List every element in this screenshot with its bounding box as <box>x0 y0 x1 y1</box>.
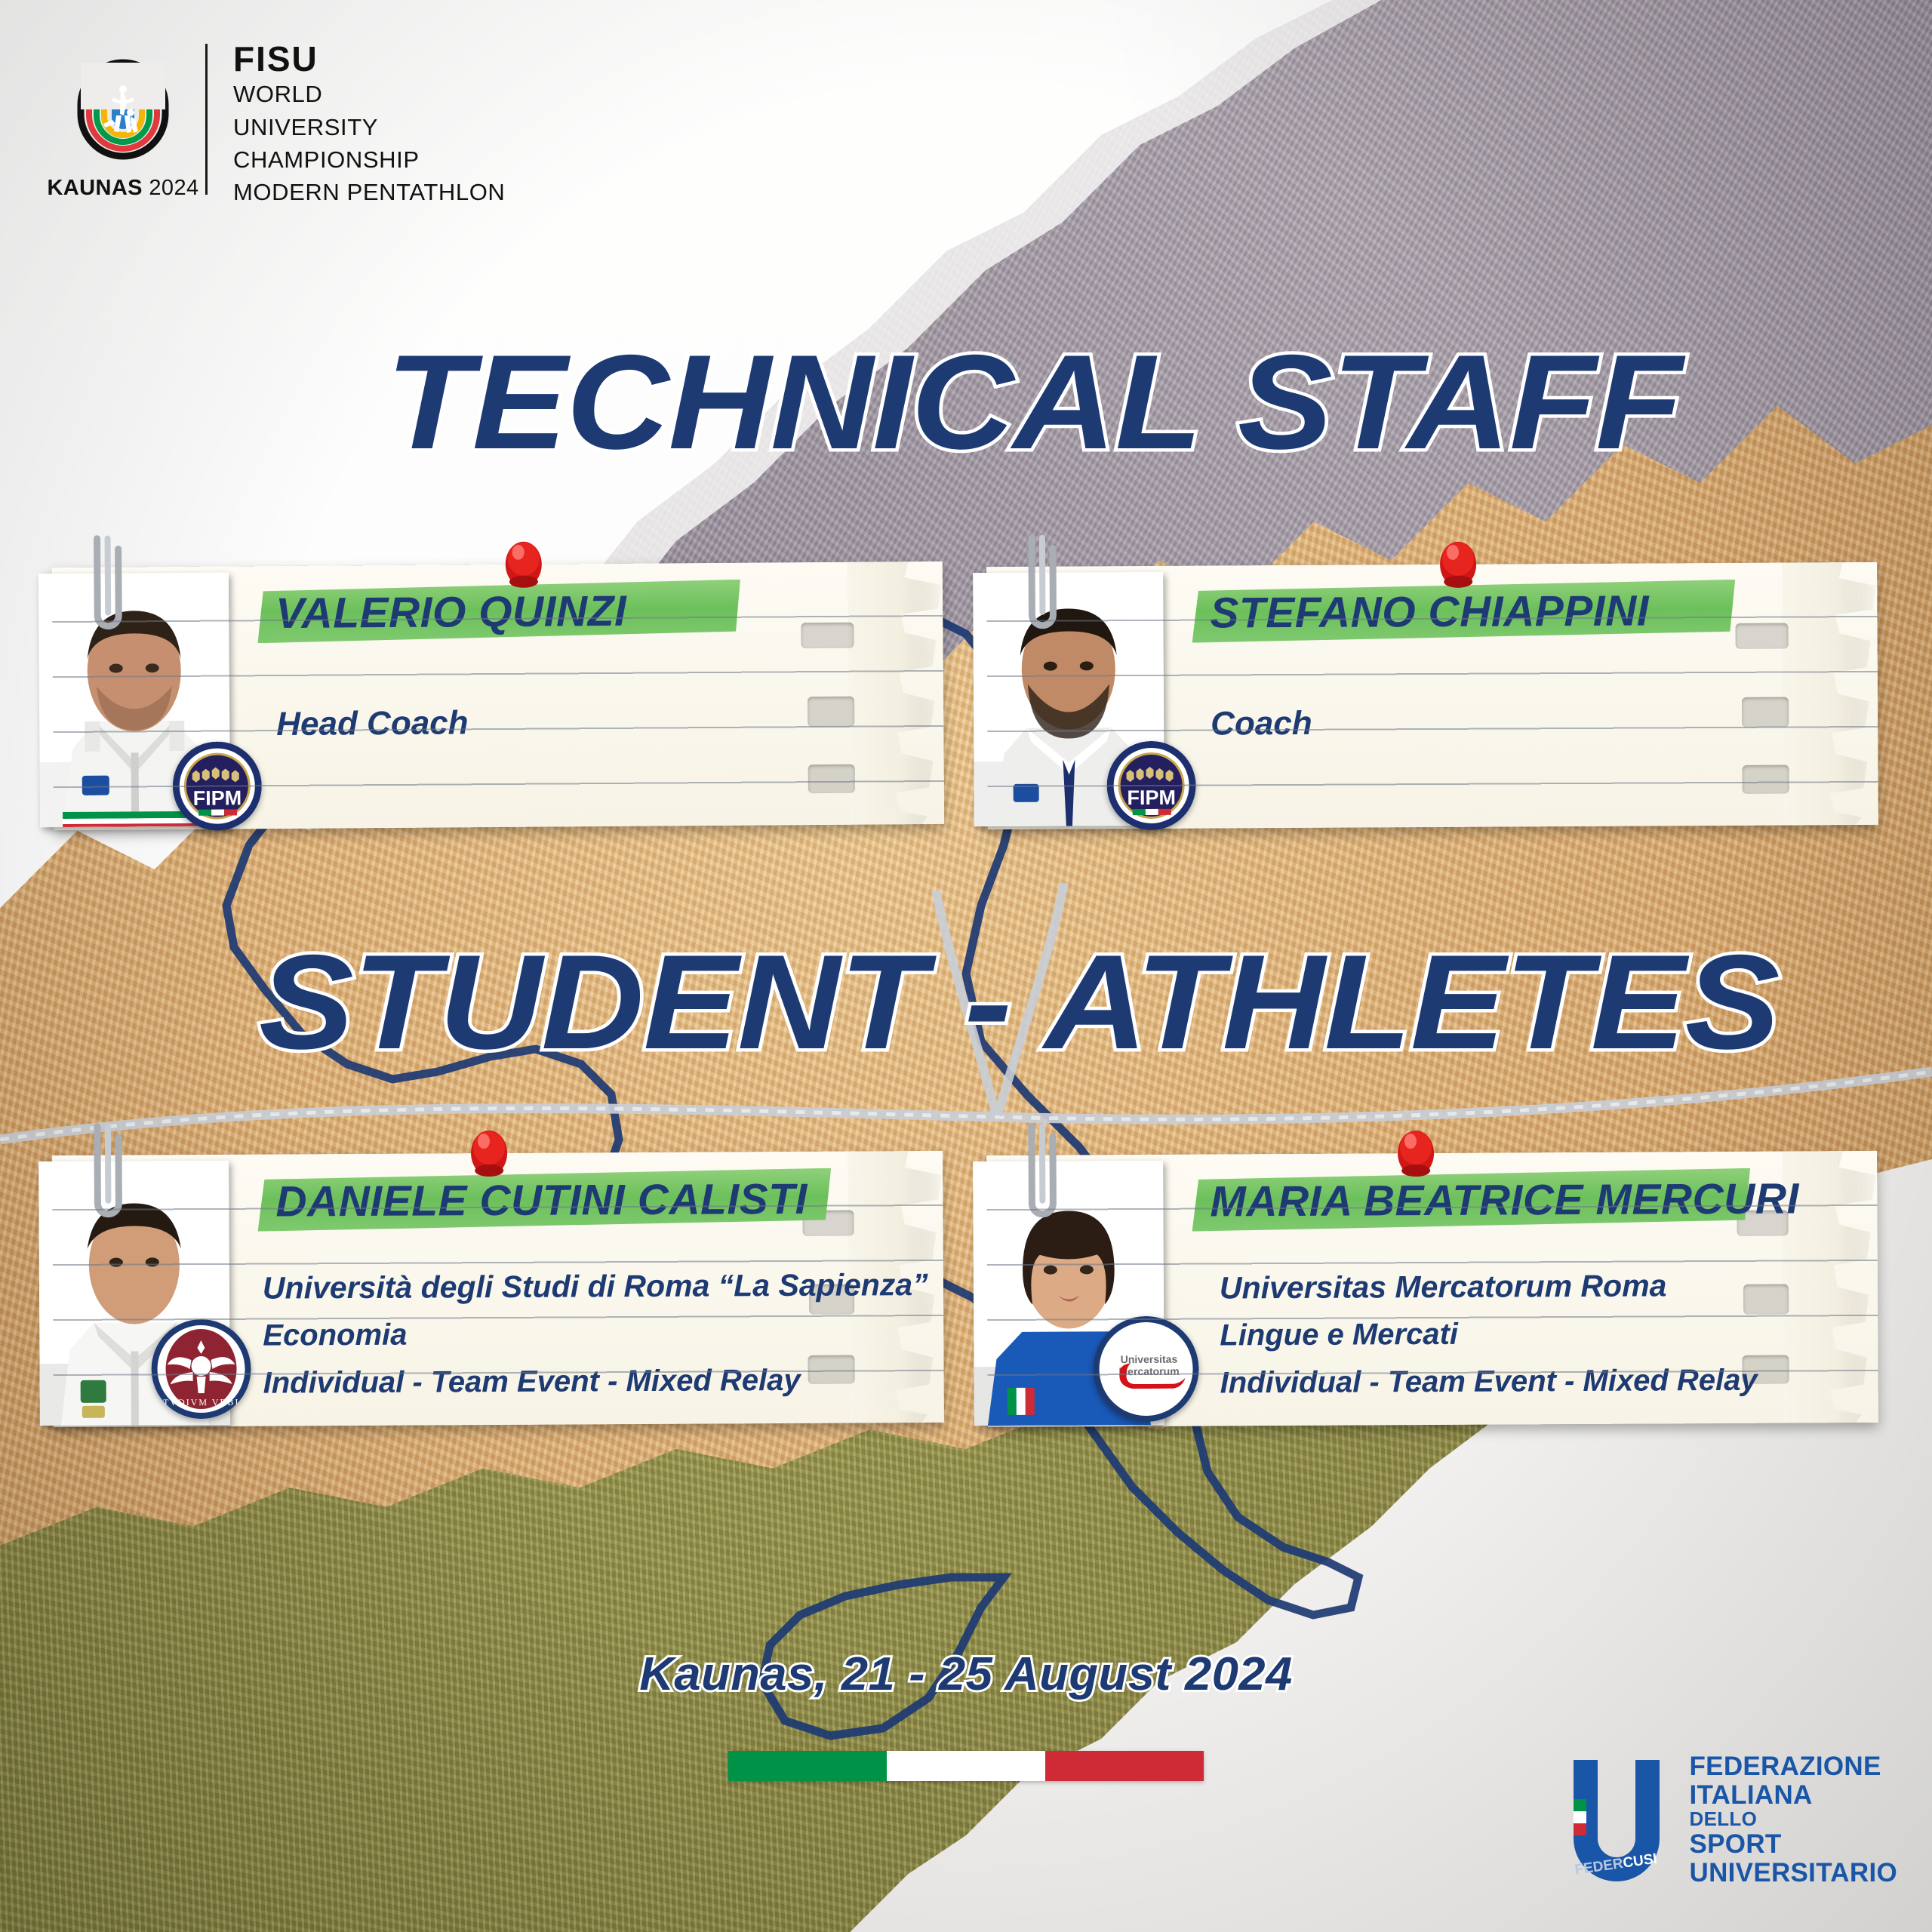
card-tear-hole <box>1742 765 1789 794</box>
fipm-badge: FIPM <box>172 741 262 831</box>
svg-text:Mercatorum: Mercatorum <box>1118 1365 1179 1377</box>
fisu-line-4: MODERN PENTATHLON <box>233 177 505 208</box>
svg-text:STVDIVM VRBIS: STVDIVM VRBIS <box>156 1397 246 1408</box>
staff-name: VALERIO QUINZI <box>275 586 627 638</box>
kaunas-logo-wordmark: KAUNAS 2024 <box>47 176 198 201</box>
fisu-line-3: CHAMPIONSHIP <box>233 144 505 175</box>
staff-name: STEFANO CHIAPPINI <box>1210 586 1649 638</box>
athlete-course: Economia <box>263 1311 928 1357</box>
staff-card-stefano-chiappini[interactable]: STEFANO CHIAPPINI Coach <box>986 562 1878 829</box>
staff-role: Coach <box>1211 705 1312 743</box>
athlete-details: Università degli Studi di Roma “La Sapie… <box>263 1263 929 1404</box>
federation-logo: FEDERCUSI FEDERAZIONE ITALIANA DELLO SPO… <box>1560 1752 1898 1887</box>
sapienza-badge: STVDIVM VRBIS <box>151 1319 251 1420</box>
athlete-events: Individual - Team Event - Mixed Relay <box>1220 1359 1758 1405</box>
section-title-technical-staff: TECHNICAL STAFF <box>386 325 1681 479</box>
push-pin-icon <box>502 540 546 593</box>
fipm-badge-icon: FIPM <box>172 741 262 831</box>
federation-name: FEDERAZIONE ITALIANA DELLO SPORT UNIVERS… <box>1690 1752 1898 1887</box>
fisu-title-block: FISU WORLD UNIVERSITY CHAMPIONSHIP MODER… <box>233 36 505 208</box>
fisu-line-2: UNIVERSITY <box>233 112 505 143</box>
push-pin-icon <box>467 1129 511 1182</box>
federation-line-1: FEDERAZIONE <box>1690 1752 1898 1780</box>
paperclip-icon <box>1017 534 1063 647</box>
kaunas-word: KAUNAS <box>47 176 142 200</box>
athlete-name: MARIA BEATRICE MERCURI <box>1210 1174 1799 1226</box>
card-tear-hole <box>1736 623 1789 649</box>
svg-text:FIPM: FIPM <box>1127 786 1176 809</box>
athlete-events: Individual - Team Event - Mixed Relay <box>263 1358 929 1404</box>
flag-stripe-white <box>887 1751 1045 1781</box>
flag-stripe-green <box>728 1751 887 1781</box>
federcusi-u-icon: FEDERCUSI <box>1560 1755 1673 1884</box>
federation-line-4: SPORT <box>1690 1830 1898 1858</box>
staff-role: Head Coach <box>276 704 469 743</box>
fisu-wordmark: FISU <box>233 41 505 77</box>
athlete-university: Universitas Mercatorum Roma <box>1220 1263 1757 1310</box>
card-tear-hole <box>808 764 855 793</box>
card-torn-edge <box>1782 562 1881 826</box>
push-pin-icon <box>1436 540 1480 593</box>
fisu-line-1: WORLD <box>233 78 505 109</box>
card-tear-hole <box>801 623 854 648</box>
federation-line-2: ITALIANA <box>1690 1781 1898 1809</box>
card-tear-hole <box>1742 697 1789 728</box>
header-divider <box>205 44 208 195</box>
athlete-name: DANIELE CUTINI CALISTI <box>275 1174 808 1227</box>
poster-canvas: KAUNAS 2024 FISU WORLD UNIVERSITY CHAMPI… <box>0 0 1932 1932</box>
federation-line-3: DELLO <box>1690 1809 1898 1830</box>
kaunas-year: 2024 <box>149 176 198 200</box>
kaunas-logo-icon <box>60 43 186 170</box>
federation-line-5: UNIVERSITARIO <box>1690 1859 1898 1887</box>
athlete-course: Lingue e Mercati <box>1220 1312 1757 1358</box>
push-pin-icon <box>1394 1129 1438 1182</box>
svg-text:FIPM: FIPM <box>193 786 242 809</box>
paperclip-icon <box>82 534 128 647</box>
athlete-university: Università degli Studi di Roma “La Sapie… <box>263 1263 928 1310</box>
paperclip-icon <box>82 1122 128 1235</box>
card-tear-hole <box>808 697 854 727</box>
paperclip-icon <box>1017 1122 1063 1235</box>
athlete-card-daniele-cutini-calisti[interactable]: DANIELE CUTINI CALISTI Università degli … <box>52 1151 944 1427</box>
mercatorum-logo-icon: Universitas Mercatorum <box>1093 1316 1199 1423</box>
italian-flag-bar <box>728 1751 1204 1781</box>
staff-card-valerio-quinzi[interactable]: VALERIO QUINZI Head Coach <box>52 561 944 830</box>
event-header: KAUNAS 2024 FISU WORLD UNIVERSITY CHAMPI… <box>59 36 505 208</box>
fipm-badge-icon: FIPM <box>1106 741 1196 831</box>
athlete-card-maria-beatrice-mercuri[interactable]: MARIA BEATRICE MERCURI Universitas Merca… <box>986 1151 1878 1427</box>
card-torn-edge <box>848 561 947 825</box>
section-title-student-athletes: STUDENT - ATHLETES <box>259 924 1779 1079</box>
flag-stripe-red <box>1045 1751 1204 1781</box>
kaunas-2024-logo: KAUNAS 2024 <box>59 43 187 201</box>
event-date-line: Kaunas, 21 - 25 August 2024 <box>639 1647 1293 1701</box>
fipm-badge: FIPM <box>1106 741 1196 831</box>
sapienza-logo-icon: STVDIVM VRBIS <box>151 1319 251 1420</box>
mercatorum-badge: Universitas Mercatorum <box>1093 1316 1199 1423</box>
athlete-details: Universitas Mercatorum Roma Lingue e Mer… <box>1220 1263 1758 1405</box>
